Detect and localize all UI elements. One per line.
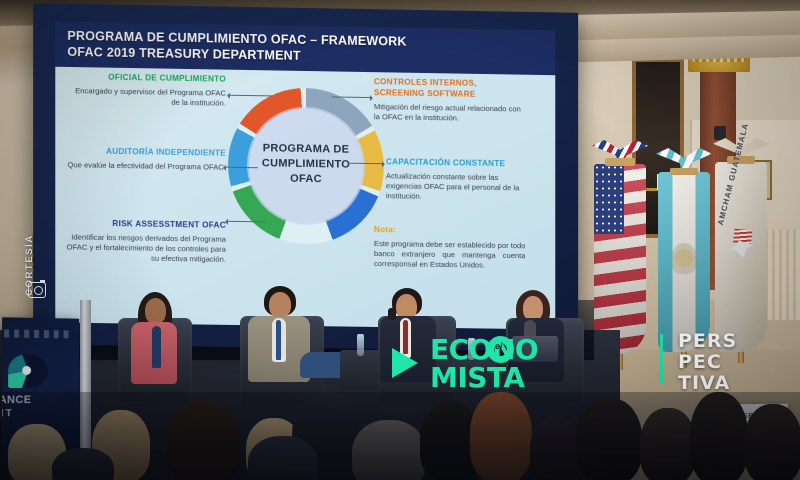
callout-heading: OFICIAL DE CUMPLIMIENTO — [73, 72, 226, 85]
elEconomista-logo: ECONO el MISTA — [392, 330, 522, 400]
audience-head — [352, 420, 426, 480]
callout-body: Este programa debe ser establecido por t… — [374, 239, 525, 271]
slide-title: PROGRAMA DE CUMPLIMIENTO OFAC – FRAMEWOR… — [55, 22, 555, 76]
callout-body: Mitigación del riesgo actual relacionado… — [374, 102, 523, 124]
callout-body: Que evalúe la efectividad del Programa O… — [61, 160, 226, 173]
presentation-slide: PROGRAMA DE CUMPLIMIENTO OFAC – FRAMEWOR… — [55, 22, 555, 330]
donut-center-line-3: OFAC — [241, 171, 371, 188]
brand-line-1: ECONO — [430, 336, 538, 364]
callout-capacitacion-constante: CAPACITACIÓN CONSTANTE Actualización con… — [386, 157, 535, 203]
united-states-flag — [590, 140, 650, 360]
handheld-microphone — [388, 308, 396, 320]
panelist-head — [269, 292, 291, 318]
flag-canton — [594, 164, 624, 234]
water-bottle-1 — [357, 334, 364, 356]
play-triangle-icon — [392, 348, 418, 378]
camera-icon — [28, 282, 46, 298]
slide-body: PROGRAMA DE CUMPLIMIENTO OFAC OFICIAL DE… — [55, 68, 555, 330]
banner-sponsor-strip — [4, 329, 73, 338]
callout-heading: AUDITORÍA INDEPENDIENTE — [61, 146, 226, 159]
logo-accent-bar — [660, 334, 663, 384]
audience-head — [690, 392, 748, 480]
video-frame: AMCHAM GUATEMALA PROGRAMA DE CUMPLIMIENT… — [0, 0, 800, 480]
brand-inner-mark: el — [495, 341, 503, 351]
leader-line-oficial — [228, 95, 272, 97]
panelist-head — [145, 298, 166, 324]
audience-head — [470, 392, 532, 480]
callout-body: Encargado y supervisor del Programa OFAC… — [73, 86, 226, 109]
audience-head — [248, 436, 318, 480]
audience-head — [576, 398, 642, 480]
guatemala-flag — [655, 148, 713, 358]
banner-logo-icon — [8, 354, 48, 388]
audience-head — [744, 404, 800, 480]
perspectiva-line-2: PEC — [678, 353, 722, 372]
amcham-guatemala-flag: AMCHAM GUATEMALA — [710, 138, 772, 353]
perspectiva-logo: PERS PEC TIVA — [660, 330, 780, 402]
banner-title-line-2: MMIT — [2, 408, 71, 420]
callout-heading: CAPACITACIÓN CONSTANTE — [386, 157, 535, 170]
audience-head — [166, 400, 240, 480]
leader-line-risk — [226, 221, 266, 223]
flag-emblem — [671, 243, 697, 277]
audience-head — [530, 416, 582, 480]
callout-auditoria-independiente: AUDITORÍA INDEPENDIENTE Que evalúe la ef… — [61, 146, 226, 173]
callout-controles-internos: CONTROLES INTERNOS, SCREENING SOFTWARE M… — [374, 77, 523, 124]
panelist-legs — [300, 352, 344, 378]
flag-band — [605, 158, 635, 166]
donut-center-label: PROGRAMA DE CUMPLIMIENTO OFAC — [241, 141, 371, 188]
flag-band — [670, 168, 698, 175]
callout-heading: CONTROLES INTERNOS, SCREENING SOFTWARE — [374, 77, 523, 101]
audience-head — [640, 408, 696, 480]
callout-heading: Nota: — [374, 225, 525, 238]
courtesy-watermark: CORTESÍA — [26, 186, 52, 306]
callout-body: Actualización constante sobre las exigen… — [386, 171, 535, 203]
callout-risk-assessment-ofac: RISK ASSESSTMENT OFAC Identificar los ri… — [57, 218, 226, 264]
presentation-screen: PROGRAMA DE CUMPLIMIENTO OFAC – FRAMEWOR… — [33, 3, 578, 352]
banner-title-line-1: LIANCE — [2, 394, 79, 406]
callout-heading: RISK ASSESSTMENT OFAC — [57, 218, 226, 231]
callout-oficial-de-cumplimiento: OFICIAL DE CUMPLIMIENTO Encargado y supe… — [73, 72, 226, 108]
brand-line-2: MISTA — [430, 364, 525, 392]
courtesy-label: CORTESÍA — [24, 186, 35, 296]
callout-nota: Nota: Este programa debe ser establecido… — [374, 225, 525, 271]
panelist-lanyard — [152, 326, 161, 368]
audience-head — [52, 448, 114, 480]
panelist-lanyard — [276, 320, 281, 360]
banner-pole — [80, 300, 91, 470]
callout-body: Identificar los riesgos derivados del Pr… — [57, 232, 226, 265]
perspectiva-line-1: PERS — [678, 332, 737, 351]
perspectiva-line-3: TIVA — [678, 374, 730, 393]
